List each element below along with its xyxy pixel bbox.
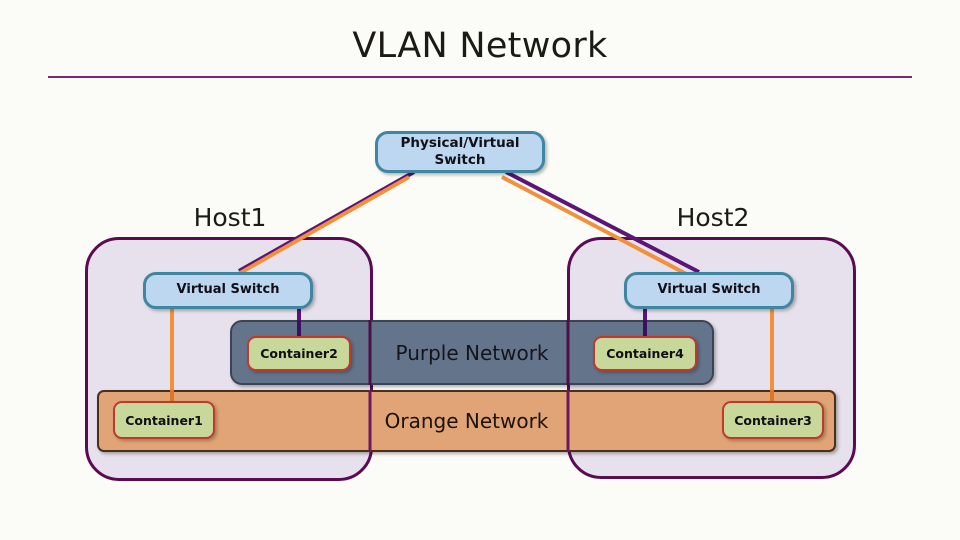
container-label-container4: Container4 bbox=[606, 346, 684, 361]
container-label-container3: Container3 bbox=[734, 413, 812, 428]
virtual-switch-label-host2: Virtual Switch bbox=[658, 282, 761, 298]
container-label-container1: Container1 bbox=[125, 413, 203, 428]
virtual-switch-box-host2[interactable]: Virtual Switch bbox=[624, 272, 794, 309]
container-box-container1[interactable]: Container1 bbox=[113, 401, 215, 439]
link-topswitch-host2-purple bbox=[506, 172, 699, 272]
physical-virtual-switch-box[interactable]: Physical/Virtual Switch bbox=[375, 131, 545, 173]
virtual-switch-label-host1: Virtual Switch bbox=[177, 282, 280, 298]
physical-virtual-switch-label-line2: Switch bbox=[435, 152, 486, 169]
link-topswitch-host1-orange bbox=[233, 177, 409, 277]
physical-virtual-switch-label-line1: Physical/Virtual bbox=[401, 135, 520, 152]
container-box-container3[interactable]: Container3 bbox=[722, 401, 824, 439]
container-label-container2: Container2 bbox=[260, 346, 338, 361]
container-box-container2[interactable]: Container2 bbox=[247, 336, 351, 371]
virtual-switch-box-host1[interactable]: Virtual Switch bbox=[143, 272, 313, 309]
connector-layer bbox=[0, 0, 960, 540]
link-topswitch-host2-orange bbox=[502, 177, 694, 278]
diagram-canvas: VLAN Network Host1 Host2 Purple Network … bbox=[0, 0, 960, 540]
container-box-container4[interactable]: Container4 bbox=[593, 336, 697, 371]
